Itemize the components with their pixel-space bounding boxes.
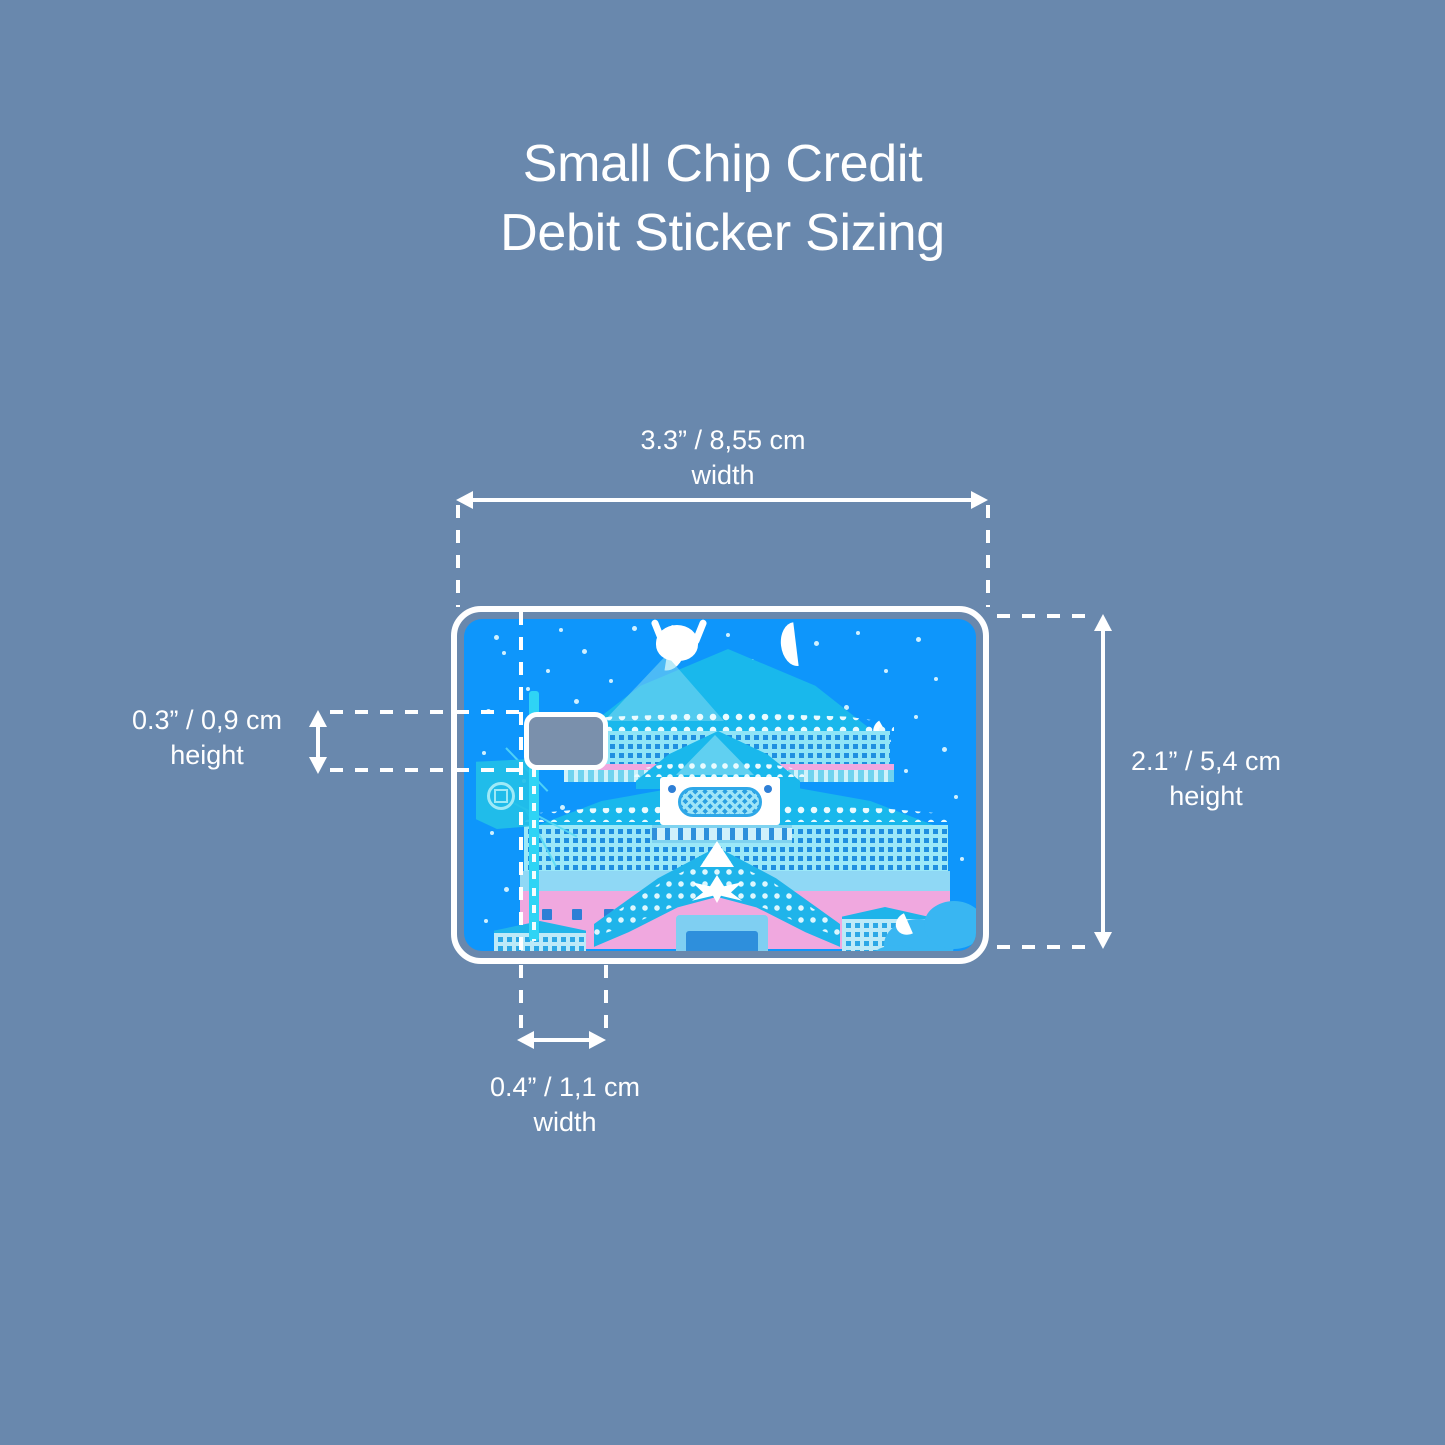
page-title-line-1: Small Chip Credit (0, 130, 1445, 199)
chip-width-guide-on-card (532, 769, 536, 941)
card-width-extension-right (986, 505, 990, 607)
card-height-axis: height (1131, 779, 1281, 814)
chip-width-arrow-line (531, 1038, 593, 1042)
card-width-label: 3.3” / 8,55 cm width (640, 423, 805, 492)
chip-width-arrowhead-left (517, 1031, 534, 1049)
chip-width-measure: 0.4” / 1,1 cm (490, 1072, 640, 1102)
bathhouse-tower-dot (764, 785, 772, 793)
card-height-label: 2.1” / 5,4 cm height (1131, 744, 1281, 813)
chip-height-axis: height (132, 738, 282, 773)
card-height-extension-top (997, 614, 1097, 618)
chip-height-arrow-line (316, 724, 320, 760)
card-height-arrow-line (1101, 629, 1105, 935)
card-height-measure: 2.1” / 5,4 cm (1131, 746, 1281, 776)
chip-width-axis: width (490, 1105, 640, 1140)
chip-width-extension-right (604, 965, 608, 1033)
star (559, 628, 563, 632)
star (494, 635, 499, 640)
bathhouse-entry-door-inner (686, 931, 758, 951)
card-width-measure: 3.3” / 8,55 cm (640, 425, 805, 455)
star (814, 641, 819, 646)
star (914, 715, 918, 719)
star (574, 699, 579, 704)
star (856, 631, 860, 635)
cloud-emblem-icon (678, 787, 762, 817)
star (560, 805, 565, 810)
sizing-diagram: Small Chip Credit Debit Sticker Sizing 3… (0, 0, 1445, 1445)
star (632, 626, 637, 631)
star (904, 769, 908, 773)
page-title-line-2: Debit Sticker Sizing (0, 199, 1445, 268)
bathhouse-left-annex (494, 933, 586, 951)
card-chip (524, 712, 608, 770)
star (484, 919, 488, 923)
card-width-axis: width (640, 458, 805, 493)
star (482, 751, 486, 755)
card-height-extension-bottom (997, 945, 1097, 949)
chip-height-label: 0.3” / 0,9 cm height (132, 703, 282, 772)
page-title: Small Chip Credit Debit Sticker Sizing (0, 130, 1445, 267)
chip-width-label: 0.4” / 1,1 cm width (490, 1070, 640, 1139)
chip-height-measure: 0.3” / 0,9 cm (132, 705, 282, 735)
star (916, 637, 921, 642)
star (582, 649, 587, 654)
card-frame (451, 606, 989, 964)
star (934, 677, 938, 681)
star (726, 633, 730, 637)
chip-width-arrowhead-right (589, 1031, 606, 1049)
banner-kanji-glyph-icon (494, 789, 508, 803)
star (954, 795, 958, 799)
star (502, 651, 506, 655)
card-width-arrow-line (470, 498, 976, 502)
bathhouse-window (542, 909, 552, 920)
card-artwork (464, 619, 976, 951)
star (504, 887, 509, 892)
card-left-guide-on-card (519, 612, 523, 964)
chip-height-arrowhead-down (309, 757, 327, 774)
chip-height-arrowhead-up (309, 710, 327, 727)
crescent-moon-icon (778, 622, 798, 668)
star (609, 679, 613, 683)
card-width-extension-left (456, 505, 460, 607)
star (960, 857, 964, 861)
foliage-cluster (924, 901, 976, 949)
chip-width-extension-left (519, 965, 523, 1033)
roof-finial-icon (656, 625, 698, 661)
star (884, 669, 888, 673)
star (546, 669, 550, 673)
bathhouse-tower-ledge (652, 825, 792, 843)
bathhouse-window (572, 909, 582, 920)
star (490, 831, 494, 835)
star (526, 687, 530, 691)
star (942, 747, 947, 752)
bathhouse-tower-dot (668, 785, 676, 793)
